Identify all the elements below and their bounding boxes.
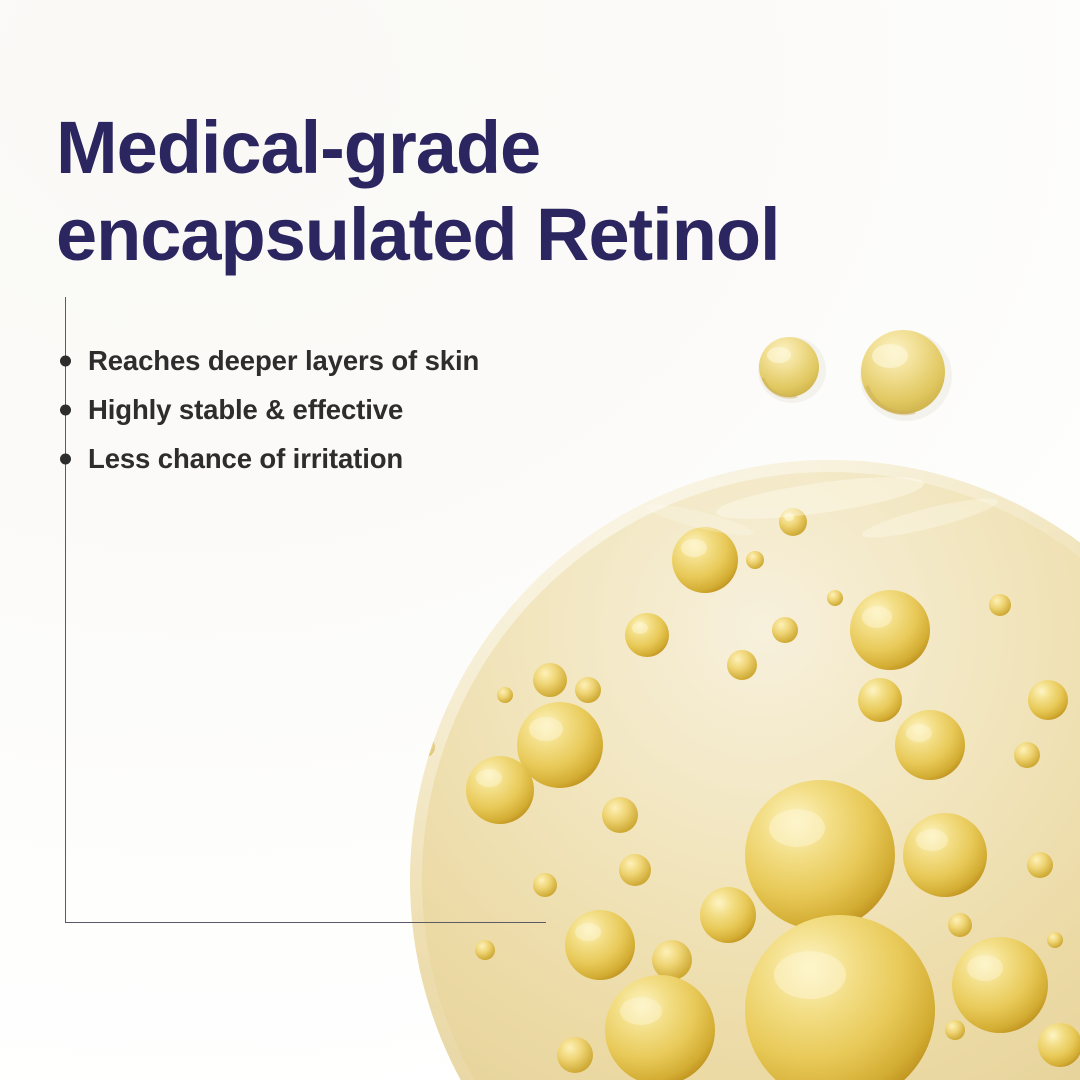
list-item: Highly stable & effective [0, 385, 479, 434]
bullet-dot-icon [60, 453, 71, 464]
list-item-label: Highly stable & effective [88, 394, 403, 426]
page-title: Medical-grade encapsulated Retinol [56, 104, 916, 279]
bullet-dot-icon [60, 355, 71, 366]
list-item-label: Less chance of irritation [88, 443, 403, 475]
list-item: Reaches deeper layers of skin [0, 336, 479, 385]
list-item: Less chance of irritation [0, 434, 479, 483]
list-item-label: Reaches deeper layers of skin [88, 345, 479, 377]
bullet-dot-icon [60, 404, 71, 415]
benefits-list: Reaches deeper layers of skin Highly sta… [0, 336, 479, 483]
promo-graphic: Medical-grade encapsulated Retinol Reach… [0, 0, 1080, 1080]
